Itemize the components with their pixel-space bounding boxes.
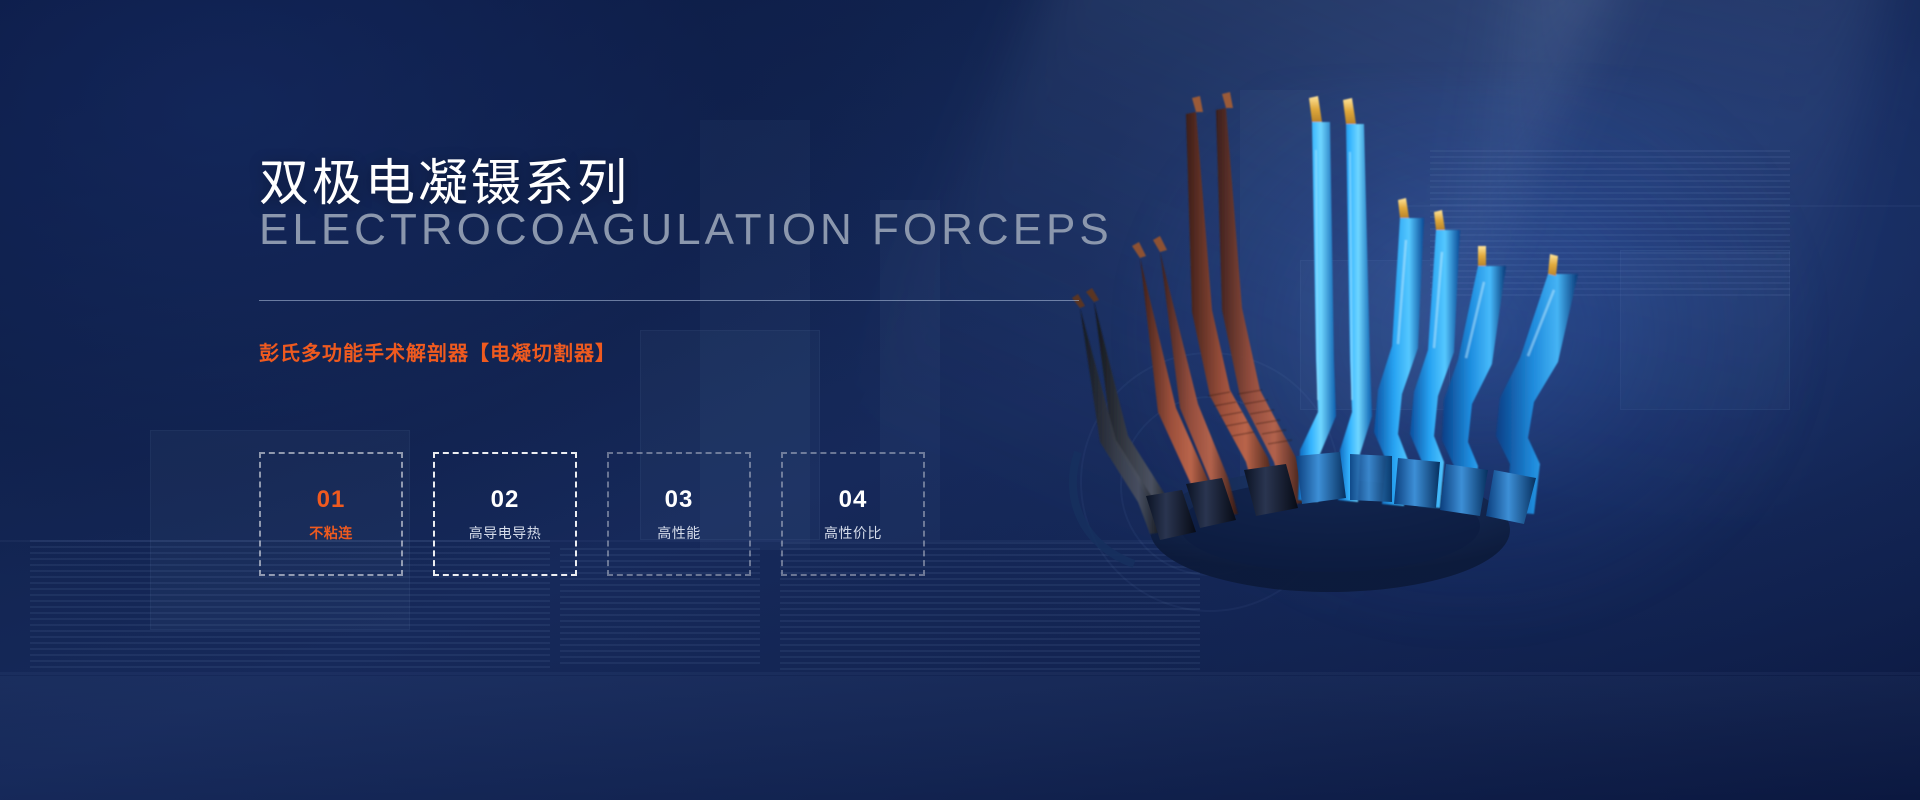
feature-card-02[interactable]: 02 高导电导热: [433, 452, 577, 576]
feature-label: 高性能: [657, 526, 701, 540]
feature-number: 04: [839, 488, 868, 512]
feature-label: 高导电导热: [469, 526, 542, 540]
banner-content: 双极电凝镊系列 ELECTROCOAGULATION FORCEPS 彭氏多功能…: [259, 0, 1259, 800]
page-subtitle: 彭氏多功能手术解剖器【电凝切割器】: [259, 337, 616, 366]
feature-number: 01: [317, 488, 346, 512]
light-beam-secondary: [1377, 0, 1916, 718]
feature-number: 03: [665, 488, 694, 512]
product-banner: 双极电凝镊系列 ELECTROCOAGULATION FORCEPS 彭氏多功能…: [0, 0, 1920, 800]
feature-list: 01 不粘连 02 高导电导热 03 高性能 04 高性价比: [259, 452, 925, 576]
feature-card-01[interactable]: 01 不粘连: [259, 452, 403, 576]
ghost-panel: [1620, 250, 1790, 410]
feature-label: 不粘连: [309, 526, 353, 540]
feature-card-03[interactable]: 03 高性能: [607, 452, 751, 576]
feature-card-04[interactable]: 04 高性价比: [781, 452, 925, 576]
feature-number: 02: [491, 488, 520, 512]
ghost-panel: [1300, 260, 1450, 410]
title-divider: [259, 300, 1079, 301]
feature-label: 高性价比: [824, 526, 882, 540]
ghost-sill-line: [1400, 205, 1920, 207]
ghost-window-blind: [1430, 150, 1790, 300]
page-title-english: ELECTROCOAGULATION FORCEPS: [259, 205, 1113, 255]
